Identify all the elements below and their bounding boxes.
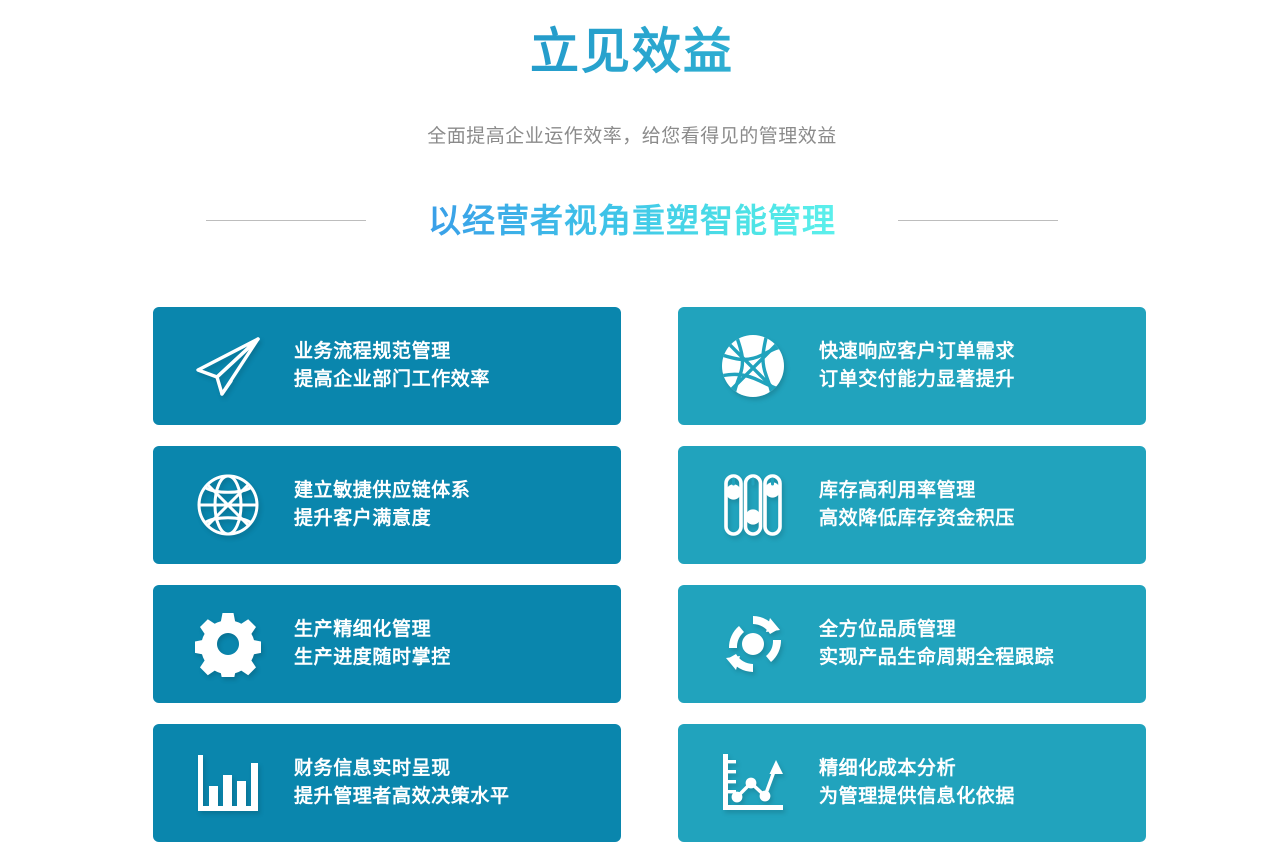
benefit-card-text: 快速响应客户订单需求 订单交付能力显著提升 [819, 338, 1015, 393]
sliders-icon [714, 470, 792, 540]
network-globe-icon [714, 331, 792, 401]
section-heading: 以经营者视角重塑智能管理 [0, 201, 1264, 241]
gear-icon [189, 609, 267, 679]
benefit-card[interactable]: 精细化成本分析 为管理提供信息化依据 [678, 724, 1146, 842]
benefit-line-1: 建立敏捷供应链体系 [294, 477, 470, 505]
page-subtitle: 全面提高企业运作效率，给您看得见的管理效益 [0, 121, 1264, 148]
lifecycle-arrows-icon [714, 609, 792, 679]
benefit-line-2: 高效降低库存资金积压 [819, 505, 1015, 533]
benefit-line-2: 订单交付能力显著提升 [819, 366, 1015, 394]
benefit-line-1: 生产精细化管理 [294, 616, 451, 644]
benefit-line-2: 为管理提供信息化依据 [819, 783, 1015, 811]
paper-plane-icon [189, 331, 267, 401]
benefits-page: 立见效益 全面提高企业运作效率，给您看得见的管理效益 以经营者视角重塑智能管理 … [0, 0, 1264, 859]
globe-outline-icon [189, 470, 267, 540]
benefit-card-text: 生产精细化管理 生产进度随时掌控 [294, 616, 451, 671]
benefit-line-1: 库存高利用率管理 [819, 477, 1015, 505]
benefit-card[interactable]: 业务流程规范管理 提高企业部门工作效率 [153, 307, 621, 425]
benefit-line-1: 快速响应客户订单需求 [819, 338, 1015, 366]
benefit-line-2: 实现产品生命周期全程跟踪 [819, 644, 1054, 672]
benefit-card-text: 财务信息实时呈现 提升管理者高效决策水平 [294, 755, 510, 810]
benefit-card-text: 建立敏捷供应链体系 提升客户满意度 [294, 477, 470, 532]
benefit-card[interactable]: 快速响应客户订单需求 订单交付能力显著提升 [678, 307, 1146, 425]
divider-line-right [898, 220, 1058, 221]
benefit-line-2: 提高企业部门工作效率 [294, 366, 490, 394]
benefit-card-text: 业务流程规范管理 提高企业部门工作效率 [294, 338, 490, 393]
line-chart-arrow-icon [714, 748, 792, 818]
divider-line-left [206, 220, 366, 221]
benefit-line-1: 全方位品质管理 [819, 616, 1054, 644]
benefit-line-1: 业务流程规范管理 [294, 338, 490, 366]
benefit-line-2: 提升客户满意度 [294, 505, 470, 533]
benefit-card-grid: 业务流程规范管理 提高企业部门工作效率 [153, 307, 1147, 842]
bar-chart-icon [189, 748, 267, 818]
benefit-card[interactable]: 财务信息实时呈现 提升管理者高效决策水平 [153, 724, 621, 842]
benefit-card[interactable]: 全方位品质管理 实现产品生命周期全程跟踪 [678, 585, 1146, 703]
benefit-line-2: 生产进度随时掌控 [294, 644, 451, 672]
section-title: 以经营者视角重塑智能管理 [428, 201, 836, 241]
benefit-card-text: 库存高利用率管理 高效降低库存资金积压 [819, 477, 1015, 532]
benefit-line-2: 提升管理者高效决策水平 [294, 783, 510, 811]
benefit-line-1: 财务信息实时呈现 [294, 755, 510, 783]
benefit-card-text: 精细化成本分析 为管理提供信息化依据 [819, 755, 1015, 810]
benefit-card[interactable]: 建立敏捷供应链体系 提升客户满意度 [153, 446, 621, 564]
benefit-card[interactable]: 库存高利用率管理 高效降低库存资金积压 [678, 446, 1146, 564]
page-title: 立见效益 [0, 0, 1264, 77]
benefit-card-text: 全方位品质管理 实现产品生命周期全程跟踪 [819, 616, 1054, 671]
benefit-line-1: 精细化成本分析 [819, 755, 1015, 783]
benefit-card[interactable]: 生产精细化管理 生产进度随时掌控 [153, 585, 621, 703]
